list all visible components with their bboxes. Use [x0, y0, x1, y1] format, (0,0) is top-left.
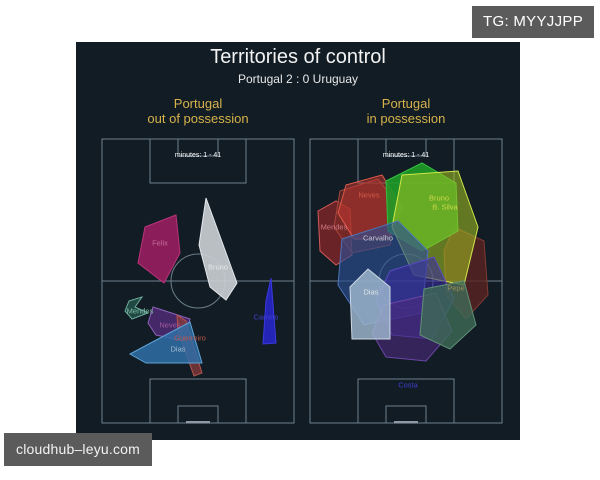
pitch-in-possession: minutes: 1 - 41 Neves Bruno B. Silva Men… [306, 135, 506, 427]
territory-mendes [125, 297, 148, 319]
territory-shapes [318, 163, 488, 361]
minutes-label: minutes: 1 - 41 [306, 152, 506, 159]
site-watermark: cloudhub–leyu.com [4, 433, 152, 466]
pitch-heading-line2: in possession [306, 111, 506, 126]
pitch-heading-line1: Portugal [306, 96, 506, 111]
match-scoreline: Portugal 2 : 0 Uruguay [76, 73, 520, 85]
pitch-heading-line1: Portugal [98, 96, 298, 111]
pitch-markings [102, 139, 294, 423]
pitch-heading-in-possession: Portugal in possession [306, 96, 506, 126]
minutes-label: minutes: 1 - 41 [98, 152, 298, 159]
tg-badge: TG: MYYJJPP [472, 6, 594, 38]
page-title: Territories of control [76, 47, 520, 67]
goal-line-marker [394, 421, 418, 424]
territory-shapes [125, 198, 276, 376]
goal-line-marker [186, 421, 210, 424]
pitch-heading-line2: out of possession [98, 111, 298, 126]
territory-carreto [263, 278, 276, 344]
pitch-left-svg [98, 135, 298, 427]
pitch-out-of-possession: minutes: 1 - 41 Felix Bruno Mendes Neves… [98, 135, 298, 427]
territory-felix [138, 215, 180, 283]
pitch-heading-out-of-possession: Portugal out of possession [98, 96, 298, 126]
territories-panel: Territories of control Portugal 2 : 0 Ur… [76, 42, 520, 440]
territory-bruno [199, 198, 237, 300]
pitch-right-svg [306, 135, 506, 427]
